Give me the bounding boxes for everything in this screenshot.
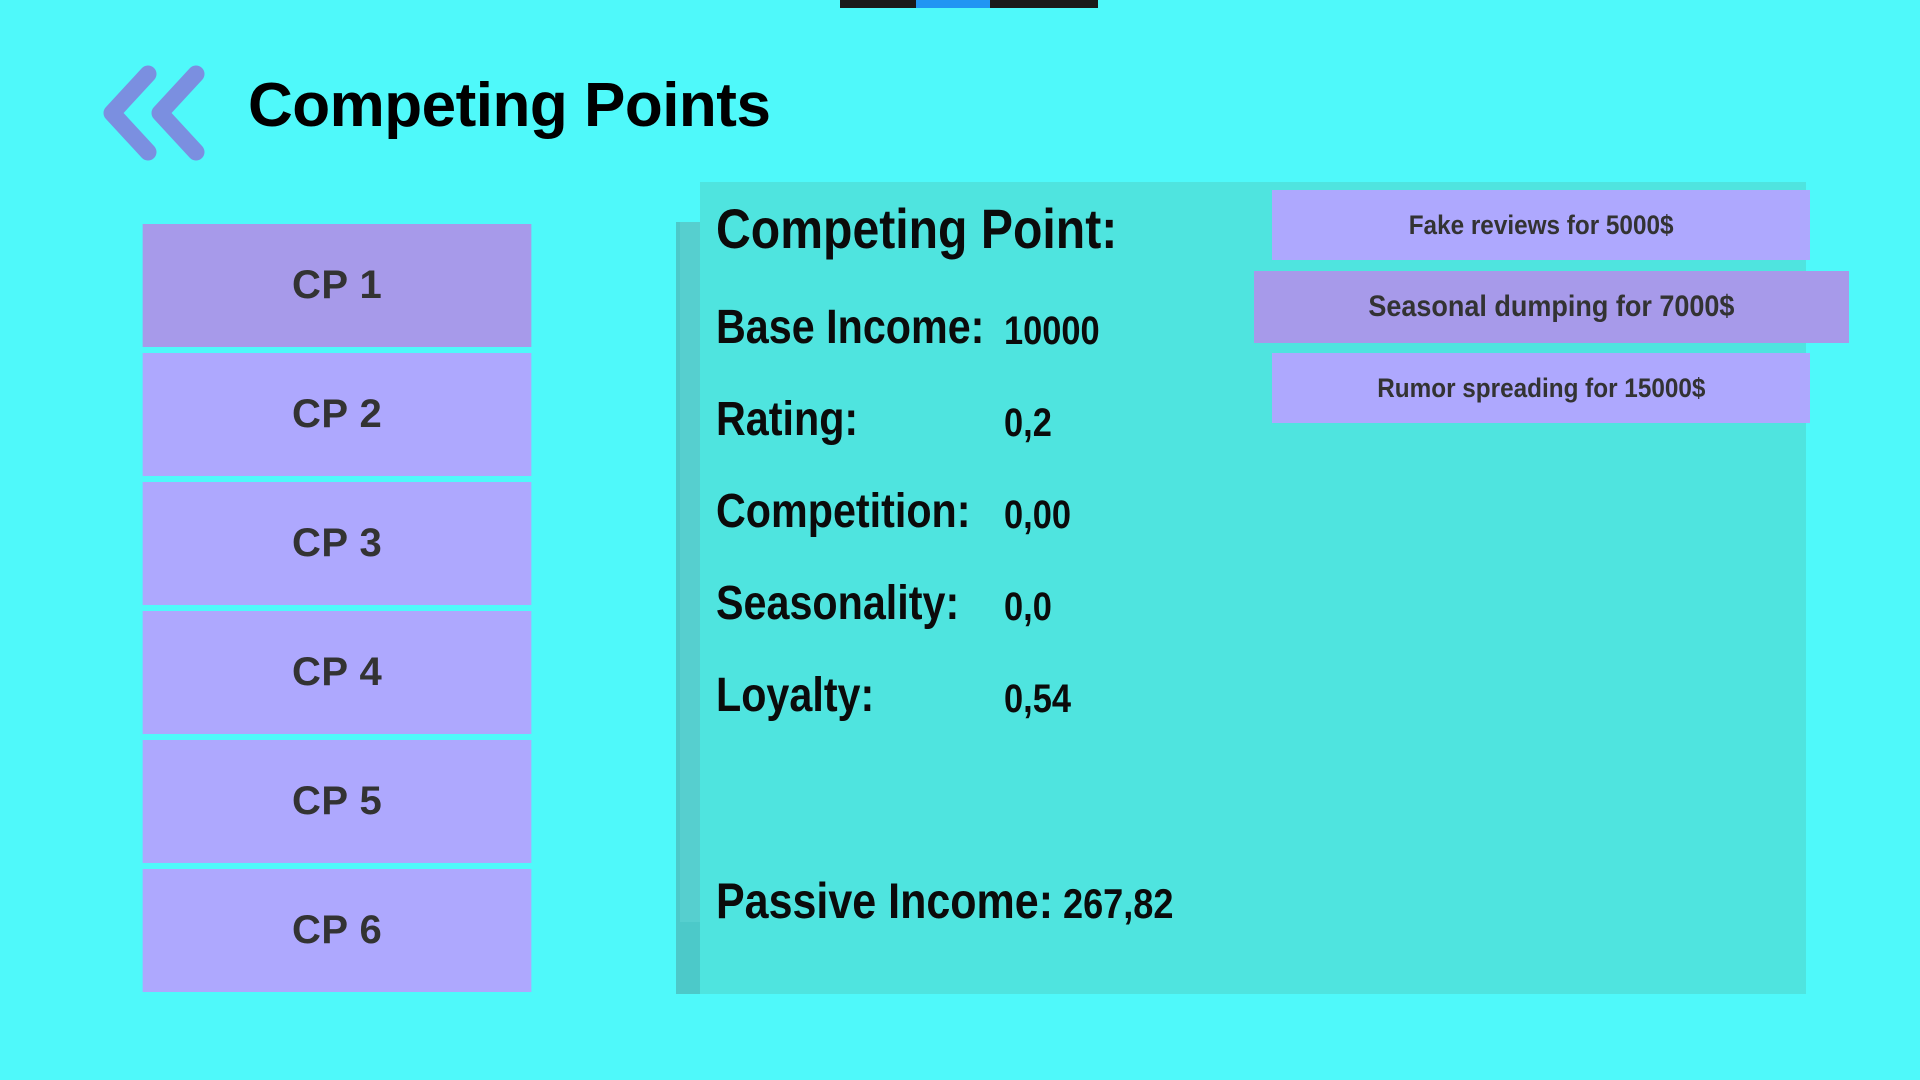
horizontal-scrollbar-thumb[interactable] [916,0,990,8]
list-item-label: CP 3 [292,521,382,566]
back-button[interactable] [96,58,216,168]
passive-income-label: Passive Income: [716,872,1053,930]
competing-point-list: CP 1 CP 2 CP 3 CP 4 CP 5 CP 6 [100,224,574,992]
action-button-label: Seasonal dumping for 7000$ [1368,290,1734,324]
list-item[interactable]: CP 3 [143,482,532,605]
stat-row-seasonality: Seasonality: 0,0 [716,576,1276,636]
list-item-label: CP 1 [292,263,382,308]
vertical-scrollbar-thumb[interactable] [680,222,700,922]
list-item[interactable]: CP 4 [143,611,532,734]
passive-income-value: 267,82 [1063,880,1173,928]
list-item-label: CP 5 [292,779,382,824]
action-button-group: Fake reviews for 5000$ Seasonal dumping … [1255,190,1875,430]
stat-label: Loyalty: [716,668,874,723]
horizontal-scrollbar[interactable] [840,0,1098,8]
action-button-rumor-spreading[interactable]: Rumor spreading for 15000$ [1272,353,1810,423]
competing-point-list-wrapper: CP 1 CP 2 CP 3 CP 4 CP 5 CP 6 [100,224,600,992]
list-item-label: CP 4 [292,650,382,695]
page-header: Competing Points [0,48,1920,158]
stat-value: 0,54 [1004,677,1071,722]
list-item[interactable]: CP 1 [143,224,532,347]
action-button-fake-reviews[interactable]: Fake reviews for 5000$ [1272,190,1810,260]
stat-label: Seasonality: [716,576,959,631]
action-button-label: Fake reviews for 5000$ [1409,210,1674,241]
double-chevron-left-icon [96,58,216,168]
action-button-label: Rumor spreading for 15000$ [1377,373,1705,404]
stat-label: Competition: [716,484,971,539]
detail-heading: Competing Point: [716,196,1117,261]
stat-row-base-income: Base Income: 10000 [716,300,1276,360]
list-item[interactable]: CP 5 [143,740,532,863]
stat-value: 0,2 [1004,401,1052,446]
stat-value: 0,0 [1004,585,1052,630]
stat-row-loyalty: Loyalty: 0,54 [716,668,1276,728]
action-button-seasonal-dumping[interactable]: Seasonal dumping for 7000$ [1254,271,1849,343]
stat-label: Rating: [716,392,858,447]
list-item[interactable]: CP 2 [143,353,532,476]
stat-row-competition: Competition: 0,00 [716,484,1276,544]
passive-income-row: Passive Income: 267,82 [716,872,1416,936]
page-title: Competing Points [248,56,770,156]
list-item-label: CP 6 [292,908,382,953]
stat-value: 10000 [1004,309,1100,354]
stat-value: 0,00 [1004,493,1071,538]
stat-label: Base Income: [716,300,984,355]
list-item-label: CP 2 [292,392,382,437]
stat-row-rating: Rating: 0,2 [716,392,1276,452]
list-item[interactable]: CP 6 [143,869,532,992]
